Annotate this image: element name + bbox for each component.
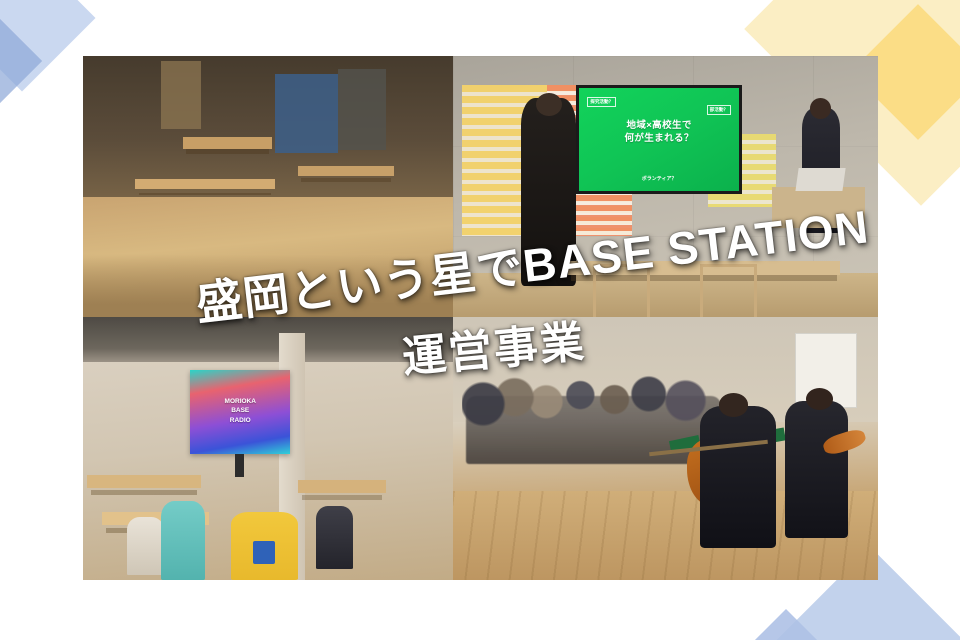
photo3-screen-line1: MORIOKA: [190, 397, 290, 407]
photo3-participant-a: [161, 501, 205, 580]
photo-presentation: 探究活動？ 部活動？ 地域×高校生で 何が生まれる？ ボランティア？: [453, 56, 878, 317]
photo2-display-frame: 探究活動？ 部活動？ 地域×高校生で 何が生まれる？ ボランティア？: [576, 85, 742, 195]
photo2-chair-a: [593, 264, 650, 317]
photo1-table-c: [298, 166, 394, 176]
photo2-screen-tag-top-left: 探究活動？: [587, 97, 616, 107]
photo1-table-a: [183, 137, 272, 149]
diamond-top-left-light-icon: [0, 0, 96, 92]
photo3-table-a: [87, 475, 202, 488]
photo2-floor: [453, 273, 878, 317]
photo-workshop-tables: MORIOKA BASE RADIO: [83, 317, 453, 580]
diamond-bottom-right-small-icon: [721, 609, 851, 640]
photo3-screen-text: MORIOKA BASE RADIO: [190, 397, 290, 426]
diamond-top-left-blue-icon: [0, 6, 42, 116]
photo-concert: [453, 317, 878, 580]
photo3-projection-screen: MORIOKA BASE RADIO: [190, 370, 290, 454]
photo2-chair-b: [700, 264, 757, 317]
photo3-screen-line3: RADIO: [190, 416, 290, 426]
photo1-panel-blue: [275, 74, 338, 152]
photo2-podium: [772, 187, 866, 229]
photo3-ceiling: [83, 317, 453, 362]
photo2-speaker-person: [521, 98, 576, 286]
photo2-screen-headline-line1: 地域×高校生で: [579, 120, 739, 133]
photo3-staff-shirt-logo: [253, 541, 275, 565]
photo3-participant-c: [316, 506, 353, 569]
photo2-speaker-head: [536, 93, 562, 116]
photo3-screen-line2: BASE: [190, 406, 290, 416]
photo3-participant-b: [127, 517, 164, 575]
photo-workshop-hall: [83, 56, 453, 317]
photo1-table-b: [135, 179, 276, 189]
photo4-violinist: [785, 401, 849, 538]
photo4-audience-heads: [462, 364, 726, 474]
photo2-screen-headline: 地域×高校生で 何が生まれる？: [579, 120, 739, 146]
photo2-screen-tag-top-right: 部活動？: [707, 105, 731, 115]
photo1-panel-grey: [338, 69, 386, 150]
photo4-cellist-head: [719, 393, 749, 417]
photo3-table-c: [298, 480, 387, 493]
photo2-screen-tag-bottom: ボランティア？: [579, 175, 739, 182]
photo1-shelf: [161, 61, 202, 129]
slide-canvas: 探究活動？ 部活動？ 地域×高校生で 何が生まれる？ ボランティア？: [0, 0, 960, 640]
photo2-display-screen: 探究活動？ 部活動？ 地域×高校生で 何が生まれる？ ボランティア？: [579, 88, 739, 192]
photo4-cellist: [700, 406, 777, 548]
photo-collage: 探究活動？ 部活動？ 地域×高校生で 何が生まれる？ ボランティア？: [83, 56, 878, 580]
photo2-laptop: [796, 168, 846, 191]
photo2-student-head: [810, 98, 831, 119]
photo2-screen-headline-line2: 何が生まれる？: [579, 133, 739, 146]
photo1-floor-shadow: [83, 254, 453, 317]
photo3-screen-stand: [235, 454, 244, 478]
